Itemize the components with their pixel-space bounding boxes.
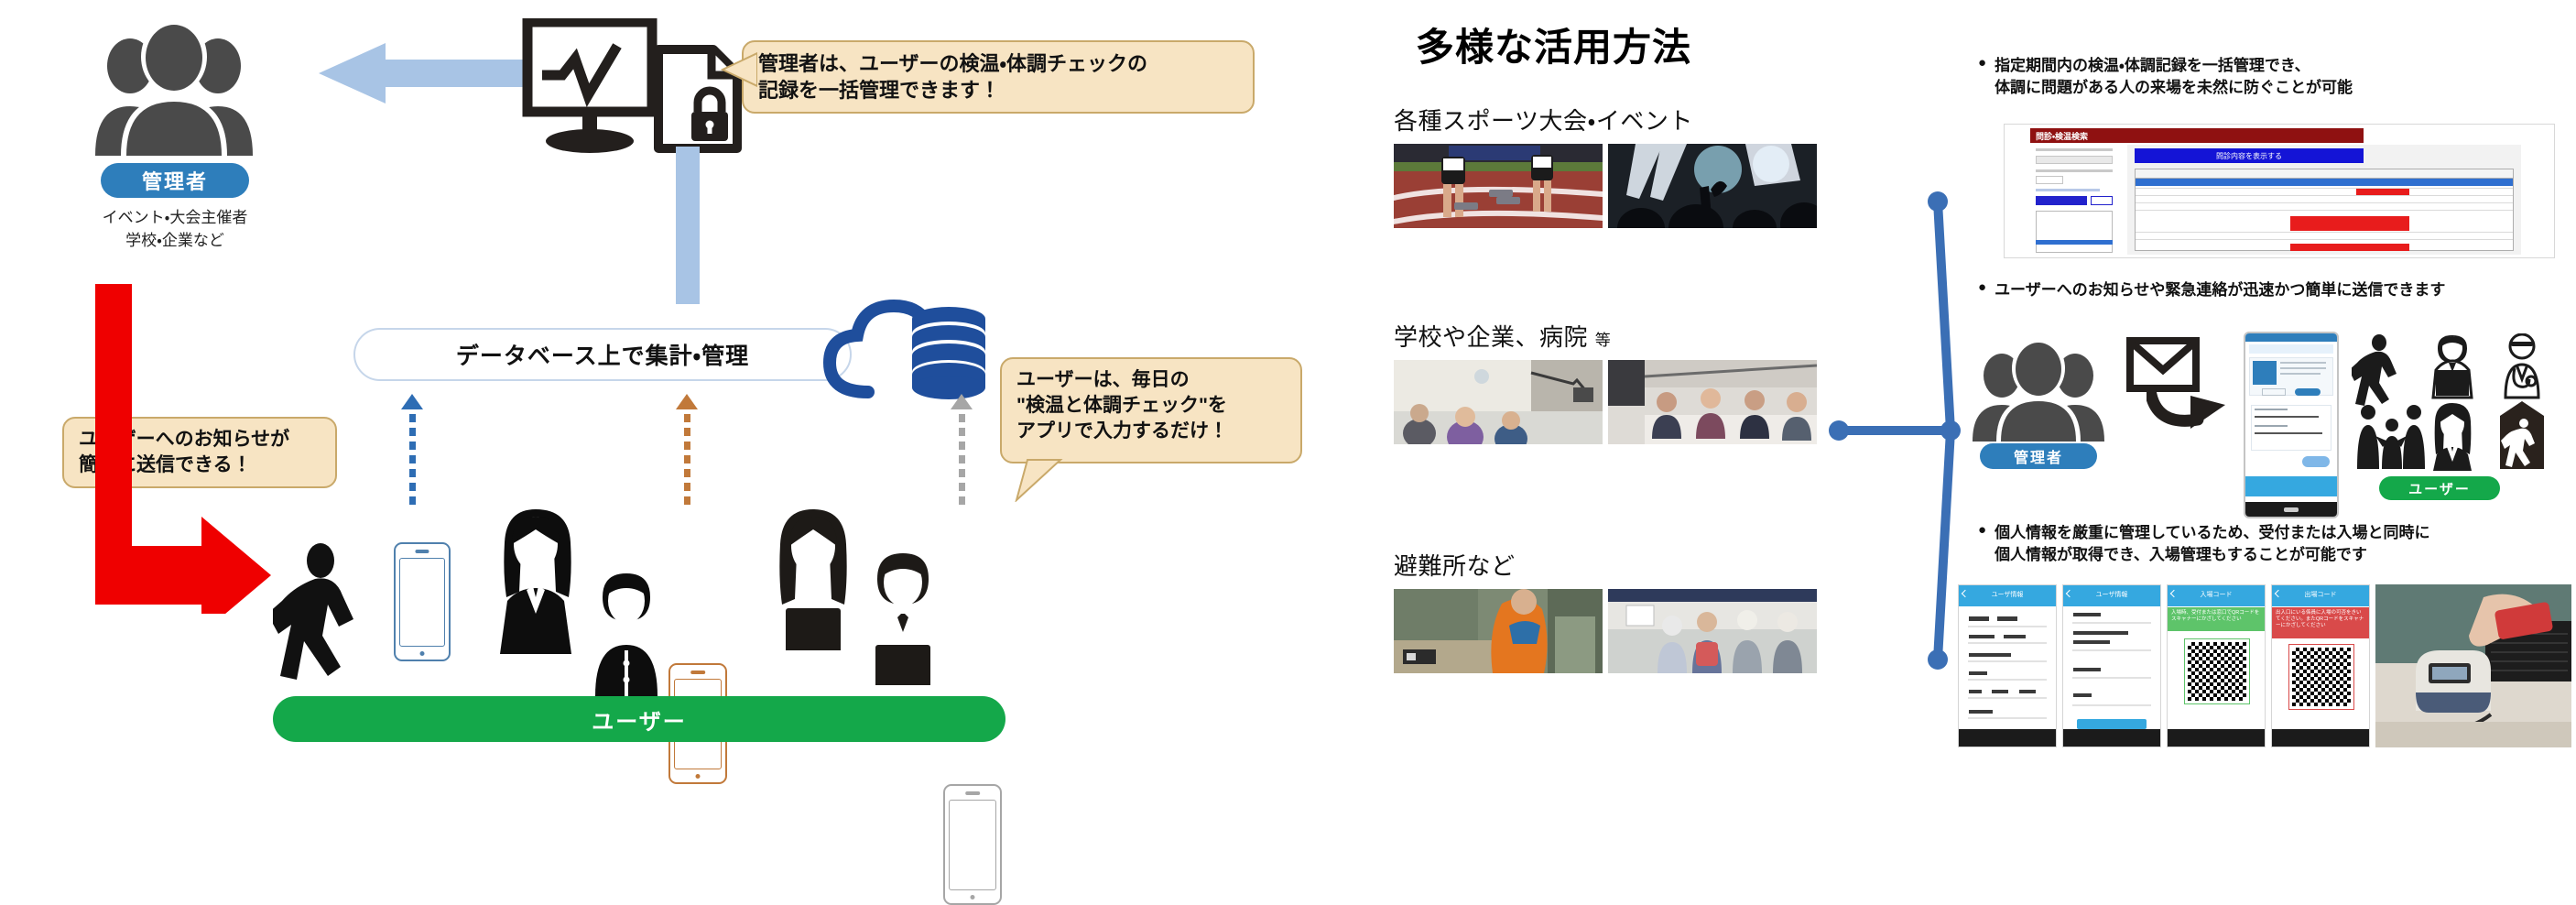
- feature-2-bullet-icon: ●: [1978, 279, 1986, 297]
- feature-3-line1: 個人情報を厳重に管理しているため、受付または入場と同時に: [1994, 522, 2430, 544]
- section-school-heading-suffix: 等: [1595, 332, 1612, 349]
- family-icon: [2357, 405, 2425, 469]
- screen-entry-qr-title: 入場コード: [2201, 590, 2233, 599]
- cloud-database-icon: [813, 284, 996, 403]
- balloon-admin: 管理者は、ユーザーの検温・体調チェックの 記録を一括管理できます！: [742, 40, 1255, 114]
- feature-1-line1: 指定期間内の検温・体調記録を一括管理でき、: [1994, 55, 2353, 77]
- admin-badge-label: 管理者: [142, 166, 208, 195]
- screenshot-title: 問診・検温検索: [2036, 130, 2088, 142]
- broadcast-admin-badge: 管理者: [1980, 443, 2097, 469]
- screenshot-action-button[interactable]: 問診内容を表示する: [2135, 148, 2364, 163]
- screen-exit-qr-title: 出場コード: [2305, 590, 2337, 599]
- screenshot-action-button-label: 問診内容を表示する: [2216, 151, 2282, 161]
- balloon-admin-line1: 管理者は、ユーザーの検温・体調チェックの: [758, 50, 1238, 77]
- broadcast-user-icons: [2352, 333, 2553, 471]
- balloon-user: ユーザーは、毎日の "検温と体調チェック"を アプリで入力するだけ！: [1000, 357, 1302, 463]
- broadcast-visual: 管理者: [1951, 332, 2573, 515]
- screenshot-left-pane: [2030, 145, 2118, 255]
- photo-classroom: [1394, 360, 1603, 444]
- feature-1-line2: 体調に問題がある人の来場を未然に防ぐことが可能: [1994, 77, 2353, 99]
- photo-relief-supplies: [1394, 589, 1603, 673]
- smartphone-gray-icon: [943, 784, 1002, 905]
- red-notify-arrow: [92, 284, 275, 614]
- broadcast-user-badge-label: ユーザー: [2408, 479, 2471, 498]
- section-sports: 各種スポーツ大会・イベント: [1394, 103, 1833, 228]
- evacuation-sign-icon: [2500, 401, 2544, 469]
- screen-user-info-2: ユーザ情報: [2062, 584, 2161, 747]
- dotted-arrow-orange: [676, 394, 698, 510]
- balloon-user-line3: アプリで入力するだけ！: [1016, 419, 1286, 444]
- photo-office-meeting: [1608, 360, 1817, 444]
- section-sports-heading: 各種スポーツ大会・イベント: [1394, 103, 1833, 136]
- user-office-man-icon: [852, 550, 954, 692]
- screenshot-title-bar: 問診・検温検索: [2030, 128, 2364, 143]
- screen-entry-qr: 入場コード 入場時、受付または窓口でQRコードをスキャナーにかざしてください: [2167, 584, 2266, 747]
- arrow-down-to-database: [676, 147, 700, 304]
- section-shelter-heading-text: 避難所など: [1394, 552, 1516, 580]
- photo-evacuation-line: [1608, 589, 1817, 673]
- app-screens-row: ユーザ情報 ユーザ情報: [1958, 584, 2576, 751]
- database-bar-label: データベース上で集計・管理: [456, 338, 749, 371]
- smartphone-chat-icon: [2244, 332, 2339, 518]
- balloon-admin-line2: 記録を一括管理できます！: [758, 77, 1238, 104]
- runner-icon: [2352, 334, 2397, 406]
- database-bar: データベース上で集計・管理: [353, 328, 852, 381]
- broadcast-user-badge: ユーザー: [2379, 476, 2500, 500]
- user-schoolboy-icon: [577, 570, 676, 698]
- broadcast-admin-badge-label: 管理者: [2014, 445, 2063, 467]
- mail-envelope-icon: [2126, 337, 2200, 392]
- admin-caption-line1: イベント・大会主催者: [55, 207, 295, 230]
- schoolgirl-icon: [2433, 403, 2472, 471]
- balloon-admin-wrap: 管理者は、ユーザーの検温・体調チェックの 記録を一括管理できます！: [742, 40, 1255, 114]
- user-runner-icon: [273, 540, 374, 687]
- feature-2-line1: ユーザーへのお知らせや緊急連絡が迅速かつ簡単に送信できます: [1994, 279, 2445, 301]
- balloon-user-line1: ユーザーは、毎日の: [1016, 367, 1286, 393]
- screen-user-info-1-title: ユーザ情報: [1992, 590, 2024, 599]
- feature-1-bullet-icon: ●: [1978, 55, 1986, 72]
- smartphone-blue-icon: [394, 542, 451, 661]
- feature-1-text: ● 指定期間内の検温・体調記録を一括管理でき、 体調に問題がある人の来場を未然に…: [1978, 55, 2564, 99]
- screen-entry-qr-code: [2184, 638, 2250, 704]
- arrow-to-admin: [317, 41, 523, 105]
- admin-group-icon: [82, 18, 266, 156]
- section-school: 学校や企業、病院 等: [1394, 319, 1833, 444]
- user-band-label: ユーザー: [592, 703, 687, 736]
- left-diagram: 管理者 イベント・大会主催者 学校・企業など: [0, 0, 1355, 759]
- section-school-heading: 学校や企業、病院 等: [1394, 319, 1833, 353]
- dotted-arrow-gray: [951, 394, 973, 510]
- curved-arrow-icon: [2147, 385, 2229, 436]
- page-title: 多様な活用方法: [1416, 16, 1691, 72]
- user-office-woman-icon: [762, 506, 864, 657]
- broadcast-admin-icon: [1965, 339, 2112, 442]
- dotted-arrow-blue: [401, 394, 423, 510]
- screen-user-info-1: ユーザ情報: [1958, 584, 2057, 747]
- admin-caption: イベント・大会主催者 学校・企業など: [55, 207, 295, 252]
- section-shelter-heading: 避難所など: [1394, 548, 1833, 582]
- section-sports-heading-text: 各種スポーツ大会・イベント: [1394, 107, 1693, 135]
- admin-search-screenshot: 問診・検温検索 問診内容を表示する: [2004, 124, 2555, 258]
- admin-caption-line2: 学校・企業など: [55, 230, 295, 253]
- feature-3-bullet-icon: ●: [1978, 522, 1986, 540]
- user-band: ユーザー: [273, 696, 1005, 742]
- balloon-admin-tail: [721, 49, 757, 92]
- screen-entry-qr-banner: 入場時、受付または窓口でQRコードをスキャナーにかざしてください: [2168, 607, 2265, 631]
- doctor-icon: [2505, 334, 2538, 398]
- screen-exit-qr-banner: 出入口にいる係員に入場の可否をきいてください。またQRコードをスキャナーにかざし…: [2272, 607, 2369, 638]
- right-panel: 多様な活用方法 各種スポーツ大会・イベント: [1374, 0, 2576, 759]
- screen-exit-qr-code: [2288, 644, 2354, 710]
- section-school-heading-text: 学校や企業、病院: [1394, 323, 1588, 351]
- admin-badge: 管理者: [101, 163, 249, 198]
- photo-concert-crowd: [1608, 144, 1817, 228]
- photo-qr-scanner: [2375, 584, 2571, 747]
- feature-3-text: ● 個人情報を厳重に管理しているため、受付または入場と同時に 個人情報が取得でき…: [1978, 522, 2576, 566]
- section-shelter: 避難所など: [1394, 548, 1833, 673]
- photo-track-athletes: [1394, 144, 1603, 228]
- screenshot-table-pane: 問診内容を表示する: [2127, 145, 2521, 255]
- balloon-user-wrap: ユーザーは、毎日の "検温と体調チェック"を アプリで入力するだけ！: [1000, 357, 1302, 463]
- feature-3-line2: 個人情報が取得でき、入場管理もすることが可能です: [1994, 544, 2430, 566]
- user-schoolgirl-icon: [485, 506, 586, 657]
- screen-user-info-2-title: ユーザ情報: [2096, 590, 2128, 599]
- balloon-user-tail: [1013, 458, 1068, 502]
- office-worker-icon: [2433, 335, 2472, 398]
- feature-2-text: ● ユーザーへのお知らせや緊急連絡が迅速かつ簡単に送信できます: [1978, 279, 2576, 301]
- balloon-user-line2: "検温と体調チェック"を: [1016, 393, 1286, 419]
- screen-exit-qr: 出場コード 出入口にいる係員に入場の可否をきいてください。またQRコードをスキャ…: [2271, 584, 2370, 747]
